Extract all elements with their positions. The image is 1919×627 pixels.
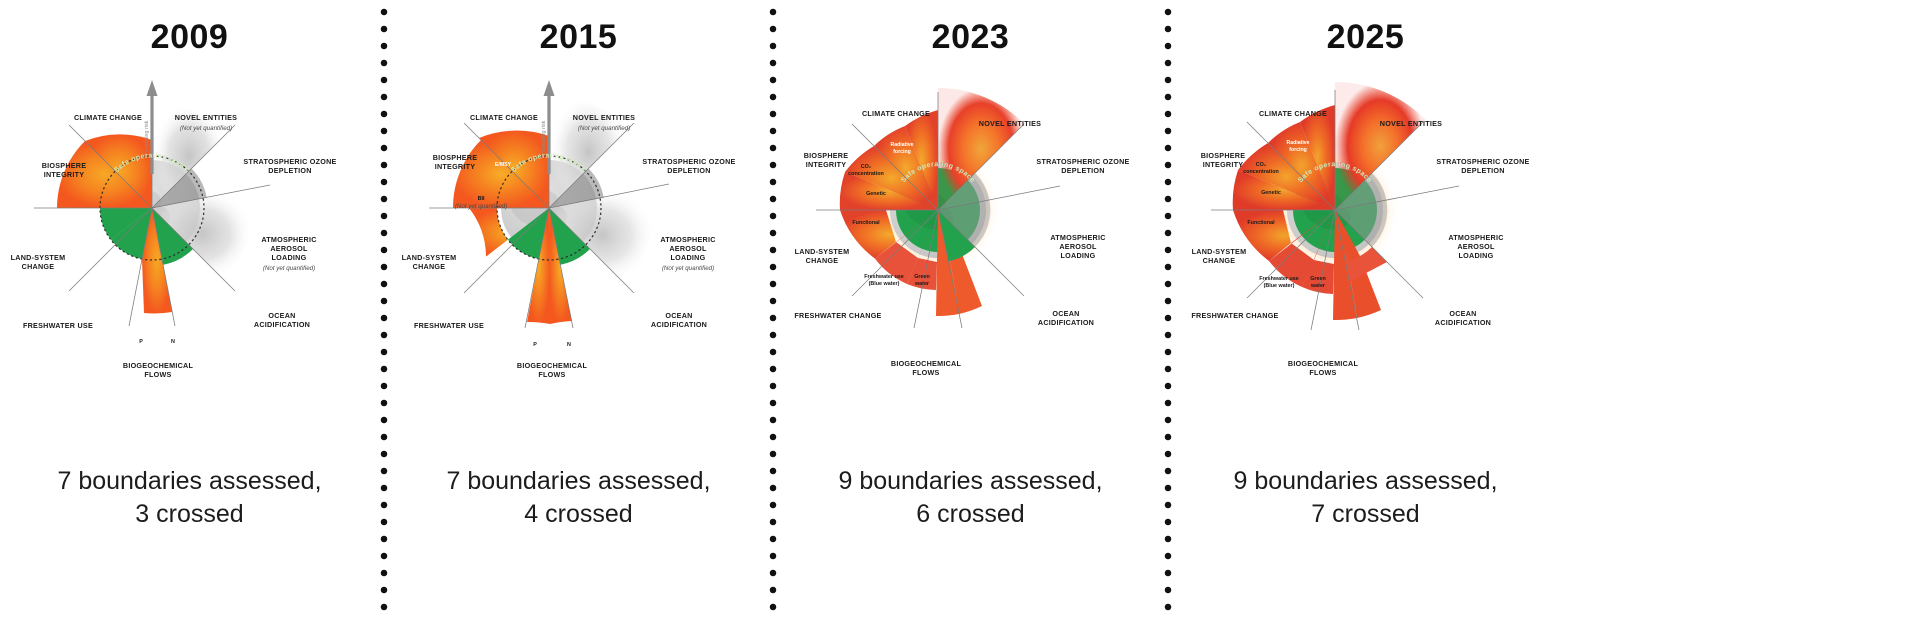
label-land-change: CHANGE	[22, 262, 55, 271]
label-co2: CO₂	[1256, 162, 1267, 168]
label-acidification: ACIDIFICATION	[1038, 318, 1094, 327]
panel-divider-3	[1163, 0, 1173, 627]
label-atmospheric: ATMOSPHERIC	[1050, 233, 1105, 242]
label-radiative: Radiative	[1286, 140, 1309, 146]
label-flows: FLOWS	[538, 370, 565, 379]
label-p: P	[1321, 336, 1325, 342]
label-ozone-depletion: DEPLETION	[268, 166, 311, 175]
label-aerosol-note: (Not yet quantified)	[263, 265, 315, 272]
diagram-2023: Safe operating space Radiative forcing C…	[778, 78, 1163, 418]
label-loading: LOADING	[671, 253, 706, 262]
divider-dots	[769, 8, 777, 619]
label-radiative: Radiative	[890, 142, 913, 148]
label-novel-entities: NOVEL ENTITIES	[1380, 119, 1442, 128]
label-stratospheric-ozone: STRATOSPHERIC OZONE	[1436, 157, 1529, 166]
label-ocean: OCEAN	[665, 311, 692, 320]
label-land-change: CHANGE	[1203, 256, 1236, 265]
label-climate-change: CLIMATE CHANGE	[470, 113, 538, 122]
label-green: Green	[1310, 276, 1326, 282]
label-freshwater-change: FRESHWATER CHANGE	[1191, 311, 1278, 320]
label-biogeochemical: BIOGEOCHEMICAL	[1288, 359, 1359, 368]
label-novel-entities: NOVEL ENTITIES	[573, 113, 635, 122]
diagram-2009: Increasing risk Safe operating space CLI…	[0, 78, 379, 418]
label-ozone-depletion: DEPLETION	[667, 166, 710, 175]
label-land-change: CHANGE	[806, 256, 839, 265]
caption-line1: 7 boundaries assessed,	[446, 467, 710, 495]
label-acidification: ACIDIFICATION	[254, 320, 310, 329]
caption-line1: 9 boundaries assessed,	[1233, 467, 1497, 495]
panel-2015: 2015	[389, 0, 768, 627]
label-ocean: OCEAN	[268, 311, 295, 320]
caption-line1: 9 boundaries assessed,	[838, 467, 1102, 495]
panel-year-2009: 2009	[0, 18, 379, 57]
label-ozone-depletion: DEPLETION	[1061, 166, 1104, 175]
caption-line1: 7 boundaries assessed,	[57, 467, 321, 495]
label-novel-entities-note: (Not yet quantified)	[180, 125, 232, 132]
label-stratospheric-ozone: STRATOSPHERIC OZONE	[1036, 157, 1129, 166]
label-freshwater-change: FRESHWATER CHANGE	[794, 311, 881, 320]
label-bii: BII	[478, 196, 485, 202]
panel-year-2025: 2025	[1173, 18, 1558, 57]
label-blue-water: (Blue water)	[869, 281, 900, 287]
label-acidification: ACIDIFICATION	[651, 320, 707, 329]
caption-2023: 9 boundaries assessed, 6 crossed	[778, 465, 1163, 531]
label-n: N	[954, 336, 958, 342]
panel-divider-1	[379, 0, 389, 627]
label-novel-entities: NOVEL ENTITIES	[175, 113, 237, 122]
label-forcing: forcing	[1289, 147, 1307, 153]
label-loading: LOADING	[1061, 251, 1096, 260]
label-biosphere: BIOSPHERE	[1201, 151, 1246, 160]
panel-divider-2	[768, 0, 778, 627]
label-functional: Functional	[852, 220, 880, 226]
label-green: Green	[914, 274, 930, 280]
label-biosphere: BIOSPHERE	[433, 153, 478, 162]
label-freshwater-use: FRESHWATER USE	[414, 321, 484, 330]
label-ocean: OCEAN	[1052, 309, 1079, 318]
label-freshwater-use-small: Freshwater use	[1259, 276, 1299, 282]
label-loading: LOADING	[272, 253, 307, 262]
label-flows: FLOWS	[144, 370, 171, 379]
panel-year-2015: 2015	[389, 18, 768, 57]
label-emsy: E/MSY	[495, 162, 512, 168]
label-aerosol-note: (Not yet quantified)	[662, 265, 714, 272]
increasing-risk-label: Increasing risk	[144, 120, 150, 155]
label-green-water: water	[1310, 283, 1326, 289]
label-p: P	[139, 339, 143, 345]
label-n: N	[171, 339, 175, 345]
panel-2025: 2025	[1173, 0, 1558, 627]
label-climate-change: CLIMATE CHANGE	[74, 113, 142, 122]
label-co2-concentration: concentration	[848, 171, 884, 177]
label-biosphere-integrity: INTEGRITY	[806, 160, 847, 169]
label-land-system: LAND-SYSTEM	[402, 253, 457, 262]
label-land-system: LAND-SYSTEM	[795, 247, 850, 256]
label-atmospheric: ATMOSPHERIC	[1448, 233, 1503, 242]
label-biosphere: BIOSPHERE	[42, 161, 87, 170]
label-aerosol: AEROSOL	[1059, 242, 1097, 251]
label-biosphere-integrity: INTEGRITY	[1203, 160, 1244, 169]
label-stratospheric-ozone: STRATOSPHERIC OZONE	[642, 157, 735, 166]
panel-year-2023: 2023	[778, 18, 1163, 57]
label-biosphere: BIOSPHERE	[804, 151, 849, 160]
label-n: N	[567, 342, 571, 348]
panel-2023: 2023	[778, 0, 1163, 627]
label-flows: FLOWS	[912, 368, 939, 377]
label-biogeochemical: BIOGEOCHEMICAL	[123, 361, 194, 370]
caption-2025: 9 boundaries assessed, 7 crossed	[1173, 465, 1558, 531]
label-atmospheric: ATMOSPHERIC	[261, 235, 316, 244]
label-acidification: ACIDIFICATION	[1435, 318, 1491, 327]
diagram-2025: Safe operating space Radiative forcing C…	[1173, 78, 1558, 418]
label-atmospheric: ATMOSPHERIC	[660, 235, 715, 244]
label-blue-water: (Blue water)	[1264, 283, 1295, 289]
label-co2-concentration: concentration	[1243, 169, 1279, 175]
label-climate-change: CLIMATE CHANGE	[1259, 109, 1327, 118]
label-genetic: Genetic	[866, 191, 886, 197]
diagram-2015: Increasing risk Safe operating space E/M…	[389, 78, 768, 418]
increasing-risk-label: Increasing risk	[541, 120, 547, 155]
label-ozone-depletion: DEPLETION	[1461, 166, 1504, 175]
label-flows: FLOWS	[1309, 368, 1336, 377]
divider-dots	[380, 8, 388, 619]
label-green-water: water	[914, 281, 930, 287]
label-biosphere-integrity: INTEGRITY	[44, 170, 85, 179]
caption-line2: 4 crossed	[389, 498, 768, 531]
label-stratospheric-ozone: STRATOSPHERIC OZONE	[243, 157, 336, 166]
label-aerosol: AEROSOL	[669, 244, 707, 253]
planetary-boundaries-figure: 2009	[0, 0, 1919, 627]
label-biogeochemical: BIOGEOCHEMICAL	[891, 359, 962, 368]
caption-line2: 7 crossed	[1173, 498, 1558, 531]
label-ocean: OCEAN	[1449, 309, 1476, 318]
label-freshwater-use-small: Freshwater use	[864, 274, 904, 280]
label-land-system: LAND-SYSTEM	[1192, 247, 1247, 256]
label-land-system: LAND-SYSTEM	[11, 253, 66, 262]
label-n: N	[1351, 336, 1355, 342]
label-aerosol: AEROSOL	[1457, 242, 1495, 251]
label-biogeochemical: BIOGEOCHEMICAL	[517, 361, 588, 370]
label-novel-entities-note: (Not yet quantified)	[578, 125, 630, 132]
label-climate-change: CLIMATE CHANGE	[862, 109, 930, 118]
label-p: P	[924, 336, 928, 342]
label-aerosol: AEROSOL	[270, 244, 308, 253]
label-forcing: forcing	[893, 149, 911, 155]
label-functional: Functional	[1247, 220, 1275, 226]
label-p: P	[533, 342, 537, 348]
caption-line2: 3 crossed	[0, 498, 379, 531]
caption-2009: 7 boundaries assessed, 3 crossed	[0, 465, 379, 531]
caption-line2: 6 crossed	[778, 498, 1163, 531]
label-co2: CO₂	[861, 164, 872, 170]
caption-2015: 7 boundaries assessed, 4 crossed	[389, 465, 768, 531]
label-land-change: CHANGE	[413, 262, 446, 271]
label-freshwater-use: FRESHWATER USE	[23, 321, 93, 330]
label-genetic: Genetic	[1261, 190, 1281, 196]
label-loading: LOADING	[1459, 251, 1494, 260]
panel-2009: 2009	[0, 0, 379, 627]
label-novel-entities: NOVEL ENTITIES	[979, 119, 1041, 128]
label-bii-note: (Not yet quantified)	[455, 203, 507, 210]
label-biosphere-integrity: INTEGRITY	[435, 162, 476, 171]
divider-dots	[1164, 8, 1172, 619]
